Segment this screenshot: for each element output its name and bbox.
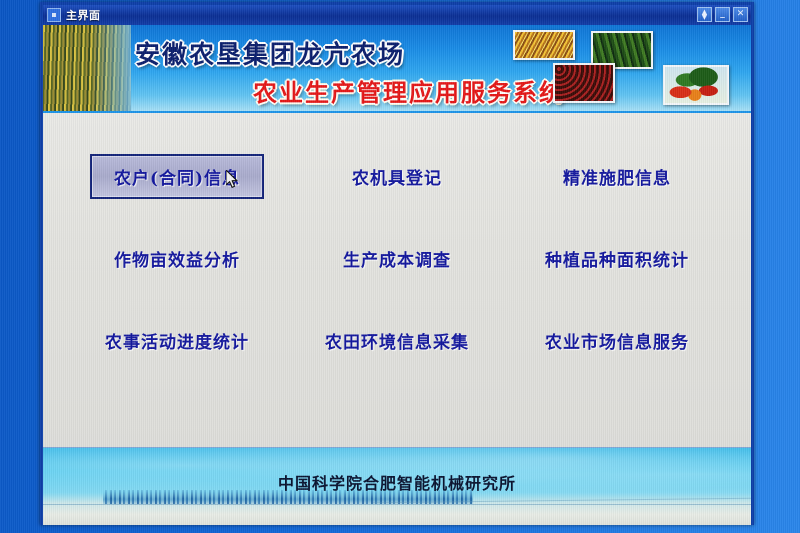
menu-production-cost-survey[interactable]: 生产成本调查	[327, 236, 467, 281]
menu-grid: 农户(合同)信息 农机具登记 精准施肥信息 作物亩效益分析 生产成本调查 种植品…	[43, 135, 751, 381]
screen: 主界面 ▲▼ _ ✕ 安徽农垦集团龙亢农场 农业生产管理应用服务系统	[0, 0, 800, 533]
header-banner: 安徽农垦集团龙亢农场 农业生产管理应用服务系统	[43, 25, 751, 113]
menu-farmland-environment-data-collection[interactable]: 农田环境信息采集	[309, 318, 485, 363]
wheat-field-photo	[43, 25, 131, 111]
main-menu-area: 农户(合同)信息 农机具登记 精准施肥信息 作物亩效益分析 生产成本调查 种植品…	[43, 113, 751, 448]
footer-banner: 中国科学院合肥智能机械研究所	[43, 448, 751, 525]
application-window: 主界面 ▲▼ _ ✕ 安徽农垦集团龙亢农场 农业生产管理应用服务系统	[40, 2, 754, 525]
red-beans-photo	[553, 63, 615, 103]
grain-photo	[513, 30, 575, 60]
close-button[interactable]: ✕	[733, 7, 748, 22]
window-controls: ▲▼ _ ✕	[697, 7, 748, 22]
minimize-button[interactable]: _	[715, 7, 730, 22]
banner-subtitle: 农业生产管理应用服务系统	[253, 73, 565, 108]
banner-title: 安徽农垦集团龙亢农场	[135, 35, 405, 71]
restore-spinner-button[interactable]: ▲▼	[697, 7, 712, 22]
menu-planting-variety-area-statistics[interactable]: 种植品种面积统计	[529, 236, 705, 281]
up-down-arrows-icon: ▲▼	[702, 10, 707, 18]
window-title: 主界面	[66, 7, 101, 23]
minimize-icon: _	[720, 10, 725, 19]
horizon-line	[43, 504, 751, 505]
menu-machinery-registration[interactable]: 农机具登记	[336, 154, 458, 199]
menu-precision-fertilization-info[interactable]: 精准施肥信息	[547, 154, 687, 199]
menu-farmer-contract-info[interactable]: 农户(合同)信息	[90, 154, 264, 199]
window-menu-icon[interactable]	[47, 8, 61, 22]
menu-agricultural-market-info-service[interactable]: 农业市场信息服务	[529, 318, 705, 363]
vegetables-photo	[663, 65, 729, 105]
menu-farming-activity-progress-statistics[interactable]: 农事活动进度统计	[89, 318, 265, 363]
footer-text: 中国科学院合肥智能机械研究所	[43, 470, 751, 494]
close-icon: ✕	[737, 10, 745, 19]
menu-crop-yield-benefit-analysis[interactable]: 作物亩效益分析	[98, 236, 256, 281]
title-bar[interactable]: 主界面 ▲▼ _ ✕	[43, 5, 751, 25]
